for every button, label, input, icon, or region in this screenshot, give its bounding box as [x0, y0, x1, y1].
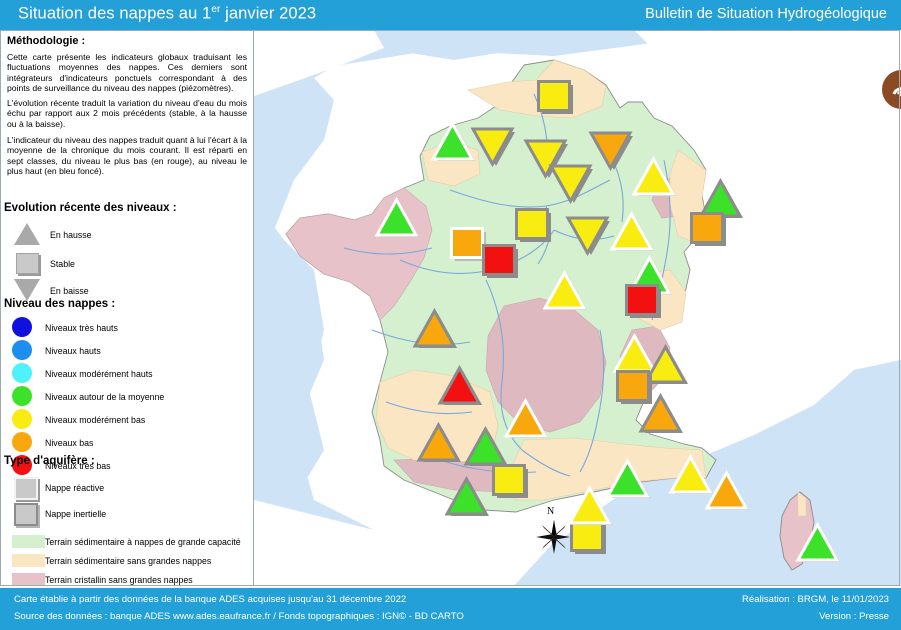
map-canvas[interactable]: Géosciences pour une Terre durable brgm … — [254, 30, 901, 586]
scale-tick-labels: 0 200 400 Km — [526, 585, 726, 586]
map-marker-pyrenees-centre[interactable] — [444, 476, 492, 520]
bulletin-page: Situation des nappes au 1er janvier 2023… — [0, 0, 901, 630]
terrain-swatch-1 — [12, 554, 45, 567]
levels-heading: Niveau des nappes : — [4, 298, 115, 310]
marker-square-icon — [690, 212, 730, 250]
map-marker-centre-sud[interactable] — [542, 270, 590, 314]
evolution-heading: Evolution récente des niveaux : — [4, 202, 177, 214]
page-title: Situation des nappes au 1er janvier 2023 — [18, 4, 316, 24]
map-marker-languedoc-ouest[interactable] — [492, 464, 526, 496]
aquifer-symbol-reactive — [14, 477, 38, 500]
footer-line-1: Carte établie à partir des données de la… — [14, 594, 406, 605]
marker-square-icon — [537, 80, 577, 118]
footer-line-2: Source des données : banque ADES www.ade… — [14, 611, 464, 622]
evolution-label: En baisse — [50, 286, 89, 296]
marker-triangle-up-icon — [503, 398, 551, 442]
terrain-swatch-0 — [12, 535, 45, 548]
level-dot-2 — [12, 363, 32, 383]
marker-triangle-up-icon — [704, 470, 752, 514]
marker-square-icon — [625, 284, 665, 322]
marker-triangle-up-icon — [412, 308, 460, 352]
marker-triangle-up-icon — [631, 156, 679, 200]
map-marker-landes[interactable] — [416, 422, 464, 466]
scale-tick-0: 0 — [526, 585, 530, 586]
map-marker-pays-de-loire[interactable] — [450, 227, 484, 259]
brgm-circle-icon — [882, 70, 901, 109]
brgm-wave-icon — [882, 70, 901, 109]
marker-square-icon — [482, 244, 522, 282]
aquifer-heading: Type d'aquifère : — [4, 455, 95, 467]
marker-triangle-up-icon — [444, 476, 492, 520]
legend-panel: Méthodologie : Cette carte présente les … — [0, 30, 253, 586]
methodology-heading: Méthodologie : — [7, 35, 85, 47]
scale-tick-1: 200 — [618, 585, 631, 586]
level-dot-4 — [12, 409, 32, 429]
map-marker-centre-nord[interactable] — [515, 208, 549, 240]
map-marker-cote-d-azur[interactable] — [704, 470, 752, 514]
evolution-symbol-square — [16, 253, 39, 274]
map-marker-corse[interactable] — [795, 522, 843, 566]
marker-triangle-down-icon — [565, 215, 613, 259]
marker-square-icon — [515, 208, 555, 246]
terrain-label: Terrain sédimentaire sans grandes nappes — [45, 556, 211, 566]
methodology-paragraph-3: L'indicateur du niveau des nappes tradui… — [7, 135, 247, 177]
map-marker-alsace-sud[interactable] — [690, 212, 724, 244]
level-label: Niveaux modérément bas — [45, 415, 145, 425]
map-marker-bretagne[interactable] — [374, 197, 422, 241]
header-bar: Situation des nappes au 1er janvier 2023… — [0, 0, 901, 30]
map-marker-charente[interactable] — [412, 308, 460, 352]
level-dot-0 — [12, 317, 32, 337]
marker-triangle-up-icon — [605, 458, 653, 502]
level-dot-5 — [12, 432, 32, 452]
map-marker-bourgogne[interactable] — [565, 215, 613, 259]
level-label: Niveaux modérément hauts — [45, 369, 153, 379]
marker-triangle-up-icon — [374, 197, 422, 241]
compass-north-label: N — [547, 506, 554, 517]
marker-square-icon — [492, 464, 532, 502]
marker-triangle-up-icon — [609, 211, 657, 255]
footer-version: Version : Presse — [819, 611, 889, 622]
level-dot-1 — [12, 340, 32, 360]
map-marker-gironde[interactable] — [437, 365, 485, 409]
terrain-swatch-2 — [12, 573, 45, 586]
map-marker-ile-de-france[interactable] — [548, 163, 596, 207]
marker-triangle-down-icon — [548, 163, 596, 207]
evolution-label: En hausse — [50, 230, 92, 240]
marker-triangle-up-icon — [416, 422, 464, 466]
level-dot-3 — [12, 386, 32, 406]
map-marker-poitou-nord[interactable] — [482, 244, 516, 276]
level-label: Niveaux très hauts — [45, 323, 118, 333]
terrain-label: Terrain cristallin sans grandes nappes — [45, 575, 193, 585]
compass-rose: N — [532, 508, 576, 564]
marker-triangle-up-icon — [437, 365, 485, 409]
map-marker-nord-pas-de-calais[interactable] — [537, 80, 571, 112]
methodology-paragraph-2: L'évolution récente traduit la variation… — [7, 98, 247, 129]
map-marker-lorraine[interactable] — [631, 156, 679, 200]
marker-triangle-up-icon — [638, 393, 686, 437]
methodology-paragraph-1: Cette carte présente les indicateurs glo… — [7, 52, 247, 94]
aquifer-symbol-inertial — [14, 503, 38, 526]
level-label: Niveaux hauts — [45, 346, 101, 356]
evolution-label: Stable — [50, 259, 75, 269]
map-marker-haute-normandie[interactable] — [470, 126, 518, 170]
brgm-logo: Géosciences pour une Terre durable brgm — [879, 68, 901, 130]
map-marker-auvergne[interactable] — [503, 398, 551, 442]
level-label: Niveaux bas — [45, 438, 93, 448]
level-label: Niveaux autour de la moyenne — [45, 392, 164, 402]
map-marker-drome[interactable] — [638, 393, 686, 437]
map-marker-provence-ouest[interactable] — [605, 458, 653, 502]
scale-tick-2: 400 Km — [692, 585, 720, 586]
marker-triangle-up-icon — [795, 522, 843, 566]
map-marker-franche-comte[interactable] — [609, 211, 657, 255]
aquifer-label: Nappe inertielle — [45, 509, 106, 519]
evolution-symbol-triangle-up — [14, 223, 40, 245]
marker-triangle-up-icon — [542, 270, 590, 314]
footer-realisation: Réalisation : BRGM, le 11/01/2023 — [742, 594, 889, 605]
terrain-label: Terrain sédimentaire à nappes de grande … — [45, 537, 241, 547]
scale-bar: 0 200 400 Km — [526, 585, 726, 586]
map-marker-haute-saone[interactable] — [625, 284, 659, 316]
marker-triangle-down-icon — [470, 126, 518, 170]
aquifer-label: Nappe réactive — [45, 483, 104, 493]
header-subtitle: Bulletin de Situation Hydrogéologique — [645, 6, 887, 22]
footer-bar: Carte établie à partir des données de la… — [0, 588, 901, 630]
